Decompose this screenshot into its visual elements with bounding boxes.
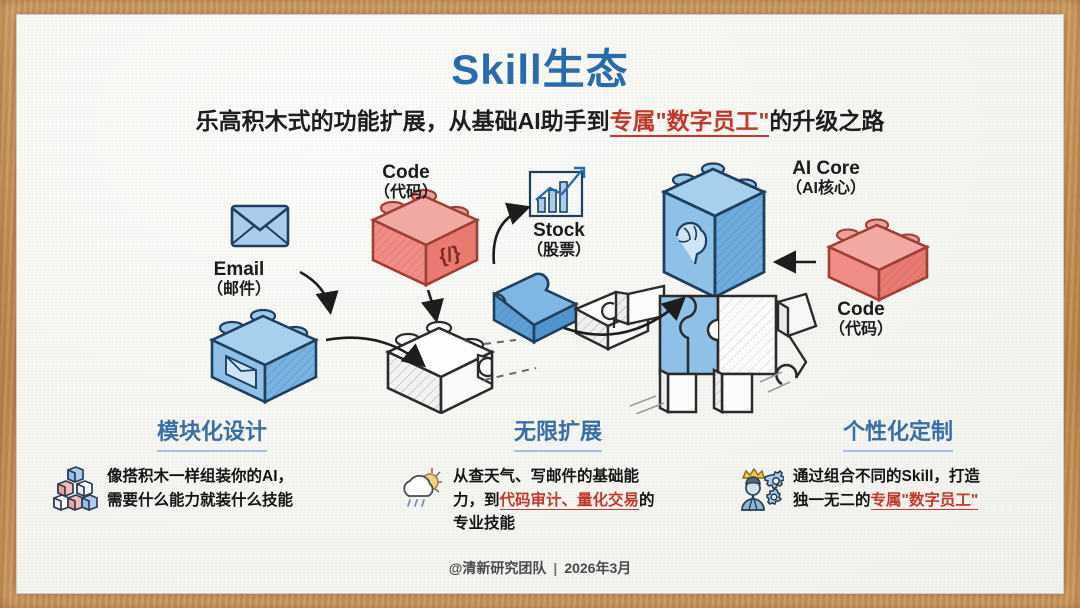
column-personalized-text: 通过组合不同的Skill，打造 独一无二的专属"数字员工" bbox=[793, 465, 980, 512]
footer-date: 2026年3月 bbox=[564, 560, 631, 576]
feature-columns: 模块化设计 bbox=[16, 414, 1064, 544]
column-modular: 模块化设计 bbox=[52, 414, 372, 512]
column-modular-heading: 模块化设计 bbox=[157, 414, 267, 452]
subtitle-after: 的升级之路 bbox=[769, 108, 884, 134]
column-unlimited-text: 从查天气、写邮件的基础能 力，到代码审计、量化交易的 专业技能 bbox=[453, 465, 655, 536]
text-line: 独一无二的专属"数字员工" bbox=[793, 489, 980, 513]
column-personalized: 个性化定制 bbox=[738, 414, 1058, 512]
bar-chart-icon bbox=[530, 168, 584, 216]
label-stock-en: Stock bbox=[504, 220, 614, 242]
column-modular-head-wrap: 模块化设计 bbox=[52, 414, 372, 452]
label-stock: Stock （股票） bbox=[504, 220, 614, 261]
robot-torso bbox=[660, 296, 776, 374]
white-lego-brick bbox=[388, 322, 492, 413]
text-seg-highlight: 专属"数字员工" bbox=[871, 492, 979, 510]
footer-separator: | bbox=[553, 560, 557, 576]
diagram-illustration: {/} bbox=[16, 144, 1064, 414]
envelope-icon bbox=[232, 206, 288, 246]
label-ai-core: AI Core （AI核心） bbox=[761, 158, 891, 199]
label-email-cn: （邮件） bbox=[184, 281, 294, 300]
label-stock-cn: （股票） bbox=[504, 242, 614, 261]
text-line: 专业技能 bbox=[453, 512, 655, 536]
column-unlimited-heading: 无限扩展 bbox=[514, 414, 602, 452]
label-code-right: Code （代码） bbox=[806, 299, 916, 340]
footer-credit: @清新研究团队|2026年3月 bbox=[16, 558, 1064, 578]
text-line: 从查天气、写邮件的基础能 bbox=[453, 465, 655, 489]
column-unlimited-head-wrap: 无限扩展 bbox=[398, 414, 718, 452]
lego-robot bbox=[616, 164, 816, 413]
footer-author: @清新研究团队 bbox=[449, 560, 547, 576]
column-modular-text: 像搭积木一样组装你的AI， 需要什么能力就装什么技能 bbox=[107, 465, 293, 512]
label-ai-core-en: AI Core bbox=[761, 158, 891, 180]
label-code-cn: （代码） bbox=[346, 184, 466, 203]
text-seg-highlight: 代码审计、量化交易 bbox=[500, 492, 640, 510]
label-code-right-cn: （代码） bbox=[806, 321, 916, 340]
label-code-en: Code bbox=[346, 162, 466, 184]
text-line: 需要什么能力就装什么技能 bbox=[107, 489, 293, 513]
column-personalized-heading: 个性化定制 bbox=[843, 414, 953, 452]
subtitle-before: 乐高积木式的功能扩展，从基础AI助手到 bbox=[196, 108, 610, 134]
subtitle-highlight: 专属"数字员工" bbox=[610, 108, 770, 137]
text-seg: 独一无二的 bbox=[793, 492, 871, 509]
email-lego-brick bbox=[212, 310, 316, 402]
stacked-blocks-icon bbox=[52, 465, 98, 511]
sun-rain-cloud-icon bbox=[398, 465, 444, 511]
label-email-en: Email bbox=[184, 259, 294, 281]
poster-canvas: Skill生态 乐高积木式的功能扩展，从基础AI助手到专属"数字员工"的升级之路 bbox=[16, 14, 1064, 594]
text-seg: 力，到 bbox=[453, 492, 500, 509]
column-unlimited: 无限扩展 从查天气、写邮件的基础能 bbox=[398, 414, 718, 536]
page-title: Skill生态 bbox=[16, 36, 1064, 97]
blue-puzzle-piece bbox=[494, 274, 576, 342]
column-personalized-head-wrap: 个性化定制 bbox=[738, 414, 1058, 452]
label-email: Email （邮件） bbox=[184, 259, 294, 300]
text-seg: 的 bbox=[639, 492, 655, 509]
diagram-stage: {/} bbox=[16, 144, 1064, 414]
ground-shading bbox=[630, 372, 790, 414]
label-code-right-en: Code bbox=[806, 299, 916, 321]
code-lego-brick: {/} bbox=[373, 190, 477, 285]
column-personalized-body: 通过组合不同的Skill，打造 独一无二的专属"数字员工" bbox=[738, 465, 1058, 512]
wooden-frame: Skill生态 乐高积木式的功能扩展，从基础AI助手到专属"数字员工"的升级之路 bbox=[0, 0, 1080, 608]
column-unlimited-body: 从查天气、写邮件的基础能 力，到代码审计、量化交易的 专业技能 bbox=[398, 465, 718, 536]
right-code-brick bbox=[829, 220, 927, 301]
column-modular-body: 像搭积木一样组装你的AI， 需要什么能力就装什么技能 bbox=[52, 465, 372, 512]
page-subtitle: 乐高积木式的功能扩展，从基础AI助手到专属"数字员工"的升级之路 bbox=[16, 102, 1064, 136]
robot-head-brick bbox=[664, 164, 764, 298]
text-line: 通过组合不同的Skill，打造 bbox=[793, 465, 980, 489]
text-line: 力，到代码审计、量化交易的 bbox=[453, 489, 655, 513]
label-ai-core-cn: （AI核心） bbox=[761, 180, 891, 199]
crowned-person-gears-icon bbox=[738, 465, 784, 511]
text-line: 像搭积木一样组装你的AI， bbox=[107, 465, 293, 489]
label-code: Code （代码） bbox=[346, 162, 466, 203]
